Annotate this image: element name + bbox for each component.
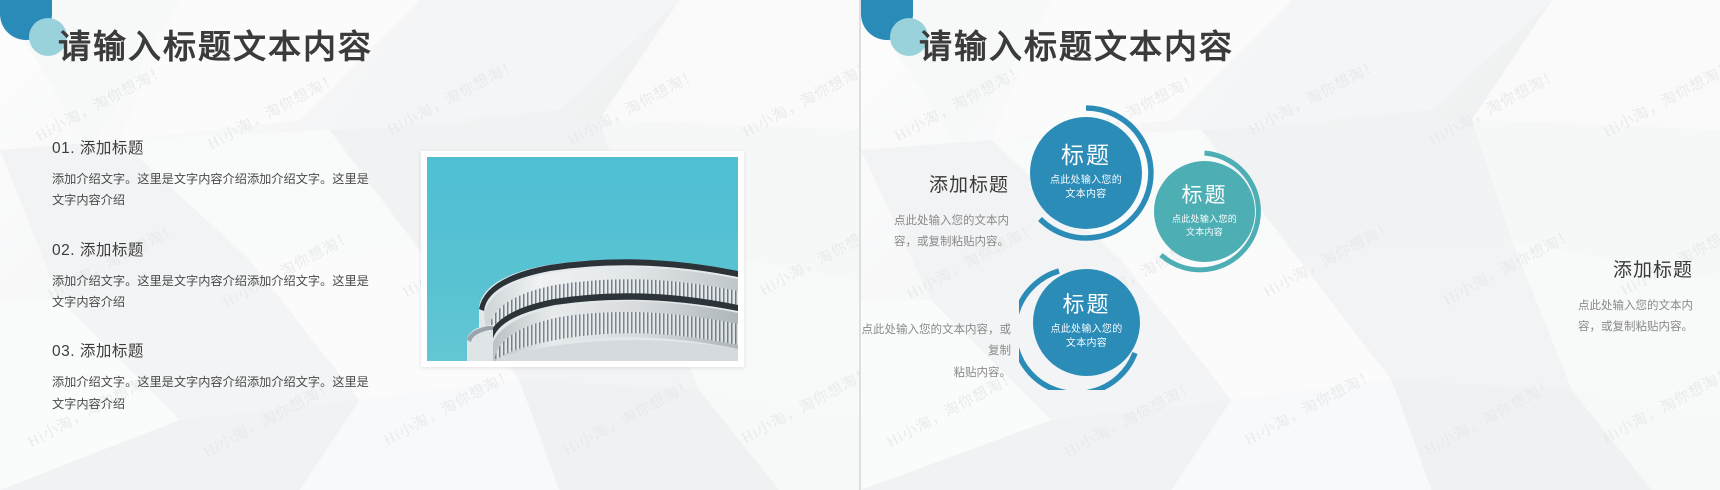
circle-top-sub-line1: 点此处输入您的 [1050, 174, 1122, 189]
watermark-text: Hi小淘，淘你想淘！ [32, 59, 170, 146]
circle-right-sub-line2: 文本内容 [1172, 226, 1237, 239]
list-item-title: 01. 添加标题 [52, 136, 382, 158]
list-item[interactable]: 01. 添加标题 添加介绍文字。这里是文字内容介绍添加介绍文字。这里是文字内容介… [52, 136, 382, 212]
text-left-top-heading: 添加标题 [861, 170, 1009, 197]
slide-deck: Hi小淘，淘你想淘！ Hi小淘，淘你想淘！ Hi小淘，淘你想淘！ Hi小淘，淘你… [0, 0, 1720, 490]
watermark-text: Hi小淘，淘你想淘！ [380, 363, 518, 450]
watermark-text: Hi小淘，淘你想淘！ [564, 63, 702, 150]
circle-node-bottom[interactable]: 标题 点此处输入您的 文本内容 [1019, 255, 1154, 390]
text-left-top-body: 点此处输入您的文本内 容，或复制粘贴内容。 [861, 211, 1009, 254]
building-photo [427, 157, 738, 361]
text-left-top-line2: 容，或复制粘贴内容。 [861, 232, 1009, 253]
text-block-right[interactable]: 添加标题 点此处输入您的文本内 容，或复制粘贴内容。 [1421, 255, 1693, 339]
content-list: 01. 添加标题 添加介绍文字。这里是文字内容介绍添加介绍文字。这里是文字内容介… [52, 136, 382, 415]
circle-right-label: 标题 [1182, 184, 1228, 207]
circle-right-sub: 点此处输入您的 文本内容 [1172, 213, 1237, 239]
circle-node-right[interactable]: 标题 点此处输入您的 文本内容 [1141, 148, 1268, 275]
circle-node-top[interactable]: 标题 点此处输入您的 文本内容 [1016, 103, 1156, 243]
page-title: 请输入标题文本内容 [58, 20, 373, 68]
list-item-body: 添加介绍文字。这里是文字内容介绍添加介绍文字。这里是文字内容介绍 [52, 271, 372, 314]
circle-top-sub-line2: 文本内容 [1050, 188, 1122, 203]
list-item[interactable]: 03. 添加标题 添加介绍文字。这里是文字内容介绍添加介绍文字。这里是文字内容介… [52, 339, 382, 415]
watermark-text: Hi小淘，淘你想淘！ [739, 55, 859, 142]
watermark-text: Hi小淘，淘你想淘！ [384, 53, 522, 140]
circle-top-sub: 点此处输入您的 文本内容 [1050, 174, 1122, 203]
circle-bottom-sub-line2: 文本内容 [1050, 337, 1122, 352]
list-item-body: 添加介绍文字。这里是文字内容介绍添加介绍文字。这里是文字内容介绍 [52, 169, 372, 212]
text-left-top-line1: 点此处输入您的文本内 [861, 211, 1009, 232]
list-item-title: 03. 添加标题 [52, 339, 382, 361]
list-item-title: 02. 添加标题 [52, 238, 382, 260]
slide-circles-diagram[interactable]: Hi小淘，淘你想淘！ Hi小淘，淘你想淘！ Hi小淘，淘你想淘！ Hi小淘，淘你… [859, 0, 1720, 490]
text-right-heading: 添加标题 [1421, 255, 1693, 282]
circle-bottom-sub: 点此处输入您的 文本内容 [1050, 323, 1122, 352]
photo-frame[interactable] [421, 151, 744, 367]
circles-diagram: 标题 点此处输入您的 文本内容 标题 点此处输入您的 文本内容 [861, 0, 1720, 490]
list-item[interactable]: 02. 添加标题 添加介绍文字。这里是文字内容介绍添加介绍文字。这里是文字内容介… [52, 238, 382, 314]
circle-top-label: 标题 [1061, 143, 1111, 168]
text-left-bottom-line2: 粘贴内容。 [861, 363, 1011, 384]
circle-bottom-sub-line1: 点此处输入您的 [1050, 323, 1122, 338]
circle-bottom-disc[interactable]: 标题 点此处输入您的 文本内容 [1033, 269, 1140, 376]
text-block-left-bottom[interactable]: 点此处输入您的文本内容，或复制 粘贴内容。 [861, 320, 1011, 384]
text-block-left-top[interactable]: 添加标题 点此处输入您的文本内 容，或复制粘贴内容。 [861, 170, 1009, 254]
watermark-text: Hi小淘，淘你想淘！ [738, 361, 859, 448]
list-item-body: 添加介绍文字。这里是文字内容介绍添加介绍文字。这里是文字内容介绍 [52, 372, 372, 415]
text-right-body: 点此处输入您的文本内 容，或复制粘贴内容。 [1421, 296, 1693, 339]
circle-top-disc[interactable]: 标题 点此处输入您的 文本内容 [1030, 117, 1142, 229]
text-left-bottom-line1: 点此处输入您的文本内容，或复制 [861, 320, 1011, 363]
circle-bottom-label: 标题 [1062, 293, 1110, 317]
text-right-line1: 点此处输入您的文本内 [1421, 296, 1693, 317]
circle-right-sub-line1: 点此处输入您的 [1172, 213, 1237, 226]
circle-right-disc[interactable]: 标题 点此处输入您的 文本内容 [1154, 161, 1255, 262]
slide-content-list[interactable]: Hi小淘，淘你想淘！ Hi小淘，淘你想淘！ Hi小淘，淘你想淘！ Hi小淘，淘你… [0, 0, 859, 490]
watermark-text: Hi小淘，淘你想淘！ [560, 373, 698, 460]
text-right-line2: 容，或复制粘贴内容。 [1421, 317, 1693, 338]
text-left-bottom-body: 点此处输入您的文本内容，或复制 粘贴内容。 [861, 320, 1011, 384]
watermark-text: Hi小淘，淘你想淘！ [756, 213, 859, 300]
